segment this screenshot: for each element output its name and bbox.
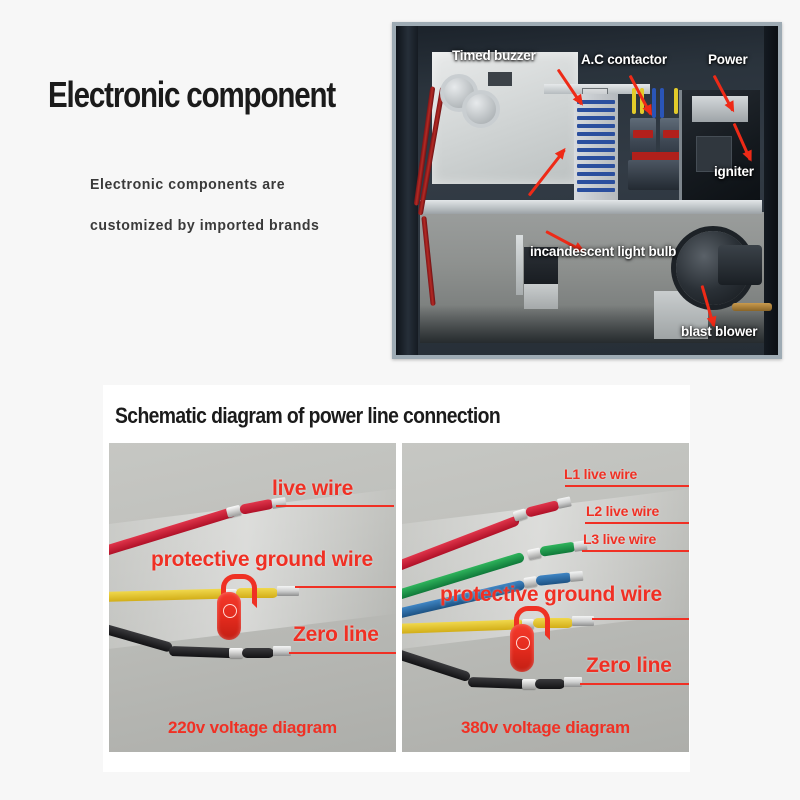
caption-380v: 380v voltage diagram bbox=[402, 718, 689, 738]
leader-zero-380 bbox=[580, 683, 689, 685]
photo-label-blast-blower: blast blower bbox=[681, 324, 757, 339]
ground-tag-body bbox=[510, 624, 534, 672]
ground-tag bbox=[213, 574, 251, 644]
leader-l2-380 bbox=[585, 522, 689, 524]
label-l2-live-wire-380: L2 live wire bbox=[586, 503, 659, 519]
page-title: Electronic component bbox=[48, 74, 335, 116]
photo-label-timed-buzzer: Timed buzzer bbox=[452, 48, 536, 63]
blower-motor bbox=[718, 245, 762, 285]
diagram-380v: L1 live wire L2 live wire L3 live wire p… bbox=[402, 443, 689, 752]
schematic-panel: Schematic diagram of power line connecti… bbox=[103, 385, 690, 772]
label-live-wire-220: live wire bbox=[272, 477, 353, 501]
wire-zero-220-tail bbox=[242, 648, 274, 658]
overload-relay bbox=[628, 160, 680, 190]
subtitle-line-1: Electronic components are bbox=[90, 176, 285, 193]
wire-zero-220-mid bbox=[169, 646, 233, 658]
igniter-device bbox=[679, 90, 760, 200]
ground-tag-body bbox=[217, 592, 241, 640]
yellow-jumper bbox=[674, 88, 678, 114]
tip-ground-220 bbox=[277, 586, 299, 596]
ferrule-zero-380 bbox=[522, 679, 536, 689]
photo-label-ac-contactor: A.C contactor bbox=[581, 52, 667, 67]
wire-zero-380-tail bbox=[535, 679, 565, 689]
tip-l3-380 bbox=[570, 571, 584, 582]
label-protective-ground-wire-380: protective ground wire bbox=[440, 583, 662, 607]
diagram-220v: live wire protective ground wire Zero li… bbox=[109, 443, 396, 752]
blower-pipe bbox=[732, 303, 772, 311]
schematic-title: Schematic diagram of power line connecti… bbox=[115, 403, 500, 429]
ground-tag bbox=[506, 606, 544, 676]
photo-canvas: Timed buzzer A.C contactor Power igniter… bbox=[396, 26, 778, 355]
label-l1-live-wire-380: L1 live wire bbox=[564, 466, 637, 482]
terminal-block bbox=[574, 94, 618, 200]
yellow-jumper bbox=[632, 88, 636, 114]
label-zero-line-220: Zero line bbox=[293, 623, 379, 647]
tip-ground-380 bbox=[572, 616, 594, 626]
photo-label-power: Power bbox=[708, 52, 748, 67]
subtitle-line-2: customized by imported brands bbox=[90, 217, 319, 234]
sensor-coil bbox=[462, 90, 500, 128]
ferrule-zero-220 bbox=[229, 648, 243, 658]
sensor-bracket bbox=[488, 72, 512, 86]
caption-220v: 220v voltage diagram bbox=[109, 718, 396, 738]
tip-zero-380 bbox=[564, 677, 582, 687]
wire-l1-380-tail bbox=[525, 500, 560, 518]
red-busbar bbox=[632, 152, 680, 160]
leader-ground-380 bbox=[592, 618, 689, 620]
tip-zero-220 bbox=[273, 646, 291, 656]
bulb-arm bbox=[516, 235, 523, 295]
leader-live-wire-220 bbox=[276, 505, 394, 507]
label-l3-live-wire-380: L3 live wire bbox=[583, 531, 656, 547]
leader-zero-line-220 bbox=[289, 652, 396, 654]
leader-l1-380 bbox=[565, 485, 689, 487]
wire-ground-220 bbox=[109, 589, 227, 602]
cross-rail bbox=[420, 200, 762, 214]
control-cabinet-photo: Timed buzzer A.C contactor Power igniter… bbox=[392, 22, 782, 359]
wire-zero-220 bbox=[109, 621, 173, 653]
wire-zero-380 bbox=[402, 646, 471, 682]
wire-live-220-tail bbox=[239, 499, 274, 515]
wire-l2-380-tail bbox=[539, 541, 576, 557]
leader-l3-380 bbox=[582, 550, 689, 552]
wire-zero-380-mid bbox=[468, 677, 526, 689]
leader-ground-wire-220 bbox=[295, 586, 396, 588]
tip-l1-380 bbox=[557, 496, 572, 508]
label-protective-ground-wire-220: protective ground wire bbox=[151, 548, 373, 572]
photo-label-igniter: igniter bbox=[714, 164, 754, 179]
label-zero-line-380: Zero line bbox=[586, 654, 672, 678]
blue-jumper bbox=[660, 88, 664, 118]
photo-label-incandescent-light-bulb: incandescent light bulb bbox=[530, 244, 676, 259]
